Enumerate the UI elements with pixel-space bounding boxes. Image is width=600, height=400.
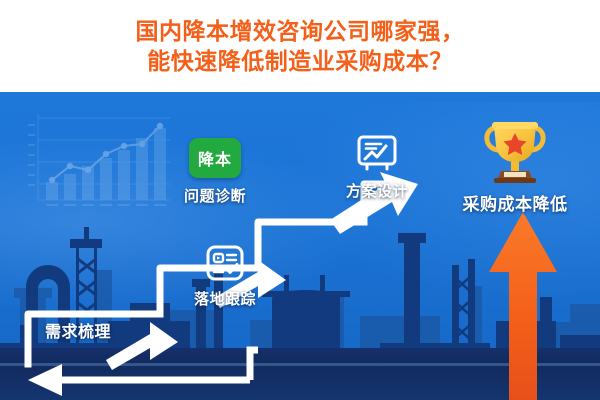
- title-line-1: 国内降本增效咨询公司哪家强，: [136, 18, 465, 44]
- node-demand-label: 需求梳理: [45, 318, 111, 342]
- node-demand[interactable]: 需求梳理: [18, 318, 138, 342]
- cost-reduction-badge-text: 降本: [198, 146, 232, 170]
- node-design-label: 方案设计: [346, 180, 408, 201]
- title-line-2: 能快速降低制造业采购成本？: [147, 48, 453, 74]
- poster-image: 需求梳理 降本 问题诊断 落: [0, 92, 600, 400]
- node-result[interactable]: 采购成本降低: [440, 114, 590, 215]
- cost-reduction-badge: 降本: [189, 138, 241, 178]
- poster-page: 国内降本增效咨询公司哪家强， 能快速降低制造业采购成本？: [0, 0, 600, 400]
- cost-reduction-arrow-icon: [487, 210, 559, 400]
- title-block: 国内降本增效咨询公司哪家强， 能快速降低制造业采购成本？: [0, 0, 600, 92]
- checklist-icon: [205, 244, 245, 282]
- node-design[interactable]: 方案设计: [322, 134, 432, 201]
- node-diagnosis[interactable]: 降本 问题诊断: [160, 138, 270, 206]
- presentation-chart-icon-wrap: [355, 134, 399, 174]
- checklist-icon-wrap: [205, 244, 245, 282]
- node-diagnosis-label: 问题诊断: [184, 185, 246, 206]
- node-result-label: 采购成本降低: [463, 190, 568, 215]
- node-tracking-label: 落地跟踪: [194, 288, 256, 309]
- node-tracking[interactable]: 落地跟踪: [170, 244, 280, 309]
- presentation-chart-icon: [355, 134, 399, 174]
- trophy-icon: [479, 114, 551, 186]
